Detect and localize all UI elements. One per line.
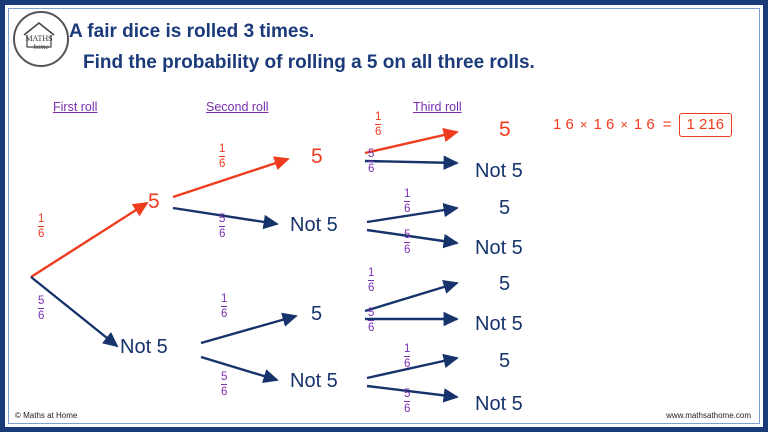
svg-text:MATHS: MATHS	[25, 34, 52, 43]
branch-prob-1-6-l1: 16	[38, 213, 44, 241]
leaf-outcome-5: 5	[499, 273, 510, 296]
branch-prob-1-6-l3c: 16	[368, 267, 374, 295]
branch-prob-1-6-l3d: 16	[404, 343, 410, 371]
leaf-outcome-8: Not 5	[475, 393, 523, 416]
node-second-roll-5-top: 5	[311, 145, 323, 169]
calc-equals-sign: =	[663, 116, 672, 133]
column-heading-third-roll: Third roll	[413, 100, 462, 114]
footer-copyright: © Maths at Home	[15, 411, 77, 420]
answer-box: 1 216	[679, 113, 733, 137]
page-title-line2: Find the probability of rolling a 5 on a…	[83, 52, 535, 74]
calc-fraction-2: 1 6	[593, 117, 614, 134]
column-heading-second-roll: Second roll	[206, 100, 269, 114]
branch-prob-1-6-l3b: 16	[404, 188, 410, 216]
node-second-roll-not5-bottom: Not 5	[290, 370, 338, 393]
leaf-outcome-7: 5	[499, 350, 510, 373]
branch-prob-1-6-l2b: 16	[221, 293, 227, 321]
leaf-outcome-4: Not 5	[475, 237, 523, 260]
branch-prob-5-6-l1: 56	[38, 295, 44, 323]
branch-prob-5-6-l3c: 56	[368, 307, 374, 335]
branch-prob-5-6-l3a: 56	[368, 148, 374, 176]
branch-prob-1-6-l2a: 16	[219, 143, 225, 171]
branch-prob-5-6-l3d: 56	[404, 388, 410, 416]
column-heading-first-roll: First roll	[53, 100, 97, 114]
branch-prob-1-6-l3a: 16	[375, 111, 381, 139]
leaf-outcome-3: 5	[499, 197, 510, 220]
leaf-outcome-6: Not 5	[475, 313, 523, 336]
node-first-roll-5: 5	[148, 190, 160, 214]
calc-fraction-3: 1 6	[634, 117, 655, 134]
calc-fraction-1: 1 6	[553, 117, 574, 134]
svg-text:home: home	[33, 43, 48, 51]
node-second-roll-5-lower: 5	[311, 303, 322, 326]
footer-website: www.mathsathome.com	[666, 411, 751, 420]
branch-prob-5-6-l2b: 56	[221, 371, 227, 399]
calc-operator-1: ×	[580, 117, 588, 132]
node-second-roll-not5-upper: Not 5	[290, 214, 338, 237]
maths-at-home-logo: MATHS home	[13, 11, 69, 67]
calc-answer-fraction: 1 216	[687, 117, 725, 134]
branch-prob-5-6-l3b: 56	[404, 229, 410, 257]
page-title-line1: A fair dice is rolled 3 times.	[69, 21, 314, 43]
logo-house-icon: MATHS home	[15, 13, 63, 61]
branch-prob-5-6-l2a: 56	[219, 213, 225, 241]
leaf-outcome-2: Not 5	[475, 160, 523, 183]
probability-calculation: 1 6 × 1 6 × 1 6 = 1 216	[550, 113, 732, 137]
leaf-outcome-1: 5	[499, 118, 511, 142]
calc-operator-2: ×	[620, 117, 628, 132]
node-first-roll-not5: Not 5	[120, 336, 168, 359]
slide-canvas: MATHS home A fair dice is rolled 3 times…	[0, 0, 768, 432]
